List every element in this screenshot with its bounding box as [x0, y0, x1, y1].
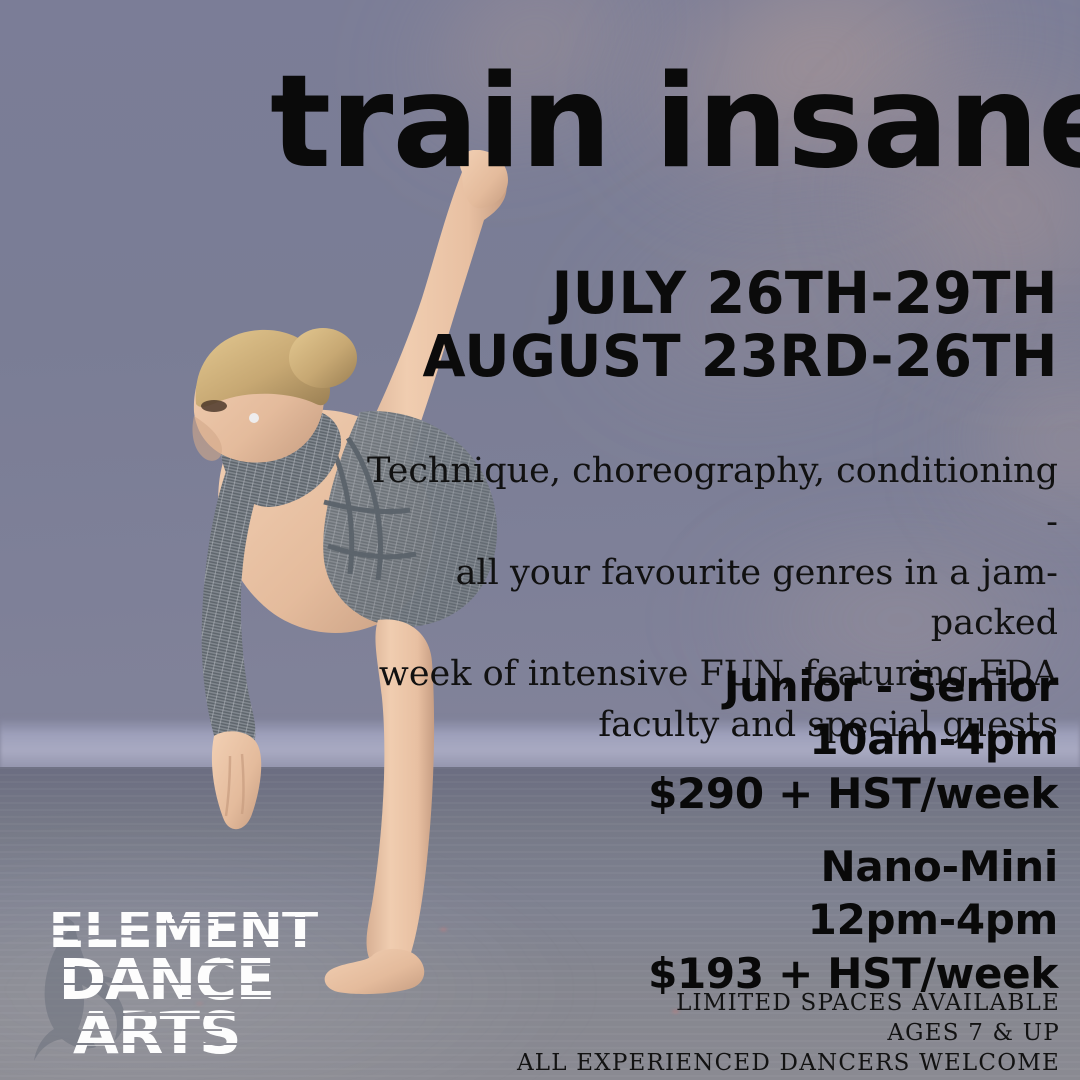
session-date-line-1: JULY 26TH-29TH: [386, 262, 1058, 325]
page-title: train insane: [270, 62, 1070, 184]
dancer-hand: [212, 731, 261, 829]
fine-print-line-3: ALL EXPERIENCED DANCERS WELCOME: [300, 1049, 1060, 1079]
tier-time: 12pm-4pm: [438, 893, 1058, 946]
fine-print: LIMITED SPACES AVAILABLE AGES 7 & UP ALL…: [300, 989, 1060, 1079]
pricing-tier-junior-senior: Junior - Senior 10am-4pm $290 + HST/week: [438, 660, 1058, 820]
fine-print-line-1: LIMITED SPACES AVAILABLE: [300, 989, 1060, 1019]
tier-name: Junior - Senior: [438, 660, 1058, 713]
dancer-bun: [289, 328, 357, 388]
fine-print-line-2: AGES 7 & UP: [300, 1019, 1060, 1049]
tier-price: $290 + HST/week: [438, 767, 1058, 820]
tier-time: 10am-4pm: [438, 713, 1058, 766]
logo-line-3: ARTS: [73, 1000, 241, 1067]
description-line-1: Technique, choreography, conditioning -: [358, 446, 1058, 548]
dancer-earring: [249, 413, 259, 423]
description-line-2: all your favourite genres in a jam-packe…: [358, 548, 1058, 650]
brand-logo: ELEMENT DANCE ARTS: [22, 895, 362, 1070]
pricing-tier-nano-mini: Nano-Mini 12pm-4pm $193 + HST/week: [438, 840, 1058, 1000]
session-date-line-2: AUGUST 23RD-26TH: [386, 325, 1058, 388]
dancer-eye: [201, 400, 227, 412]
promo-poster: train insane JULY 26TH-29TH AUGUST 23RD-…: [0, 0, 1080, 1080]
tier-name: Nano-Mini: [438, 840, 1058, 893]
session-dates: JULY 26TH-29TH AUGUST 23RD-26TH: [358, 262, 1058, 387]
brand-wordmark: ELEMENT DANCE ARTS: [49, 899, 319, 1066]
